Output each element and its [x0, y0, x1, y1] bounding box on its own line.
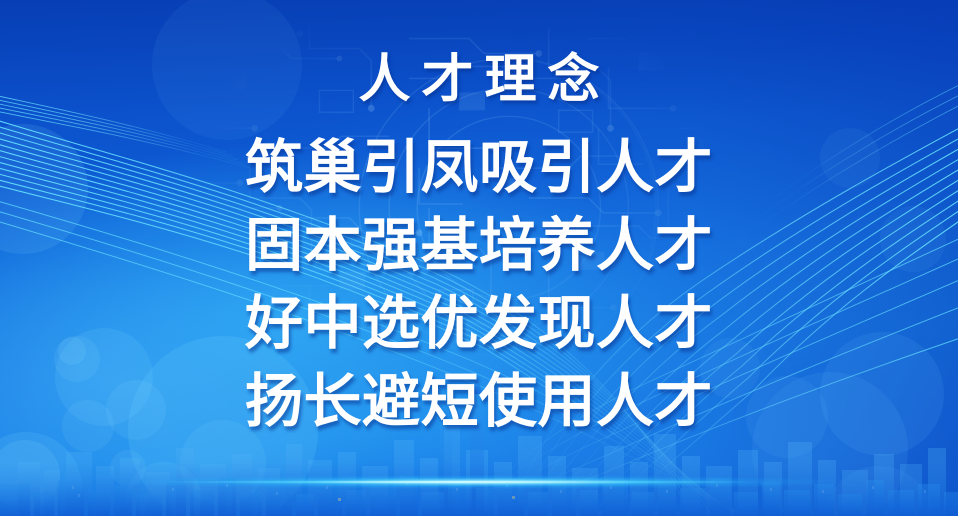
slogan-line-4: 扬长避短使用人才 — [245, 362, 713, 440]
slogan-line-3: 好中选优发现人才 — [245, 284, 713, 362]
slogan-line-2: 固本强基培养人才 — [245, 206, 713, 284]
slogan-list: 筑巢引凤吸引人才 固本强基培养人才 好中选优发现人才 扬长避短使用人才 — [245, 128, 713, 440]
poster-canvas: 人才理念 筑巢引凤吸引人才 固本强基培养人才 好中选优发现人才 扬长避短使用人才 — [0, 0, 958, 516]
poster-content: 人才理念 筑巢引凤吸引人才 固本强基培养人才 好中选优发现人才 扬长避短使用人才 — [0, 0, 958, 516]
slogan-line-1: 筑巢引凤吸引人才 — [245, 128, 713, 206]
page-title: 人才理念 — [347, 52, 610, 108]
